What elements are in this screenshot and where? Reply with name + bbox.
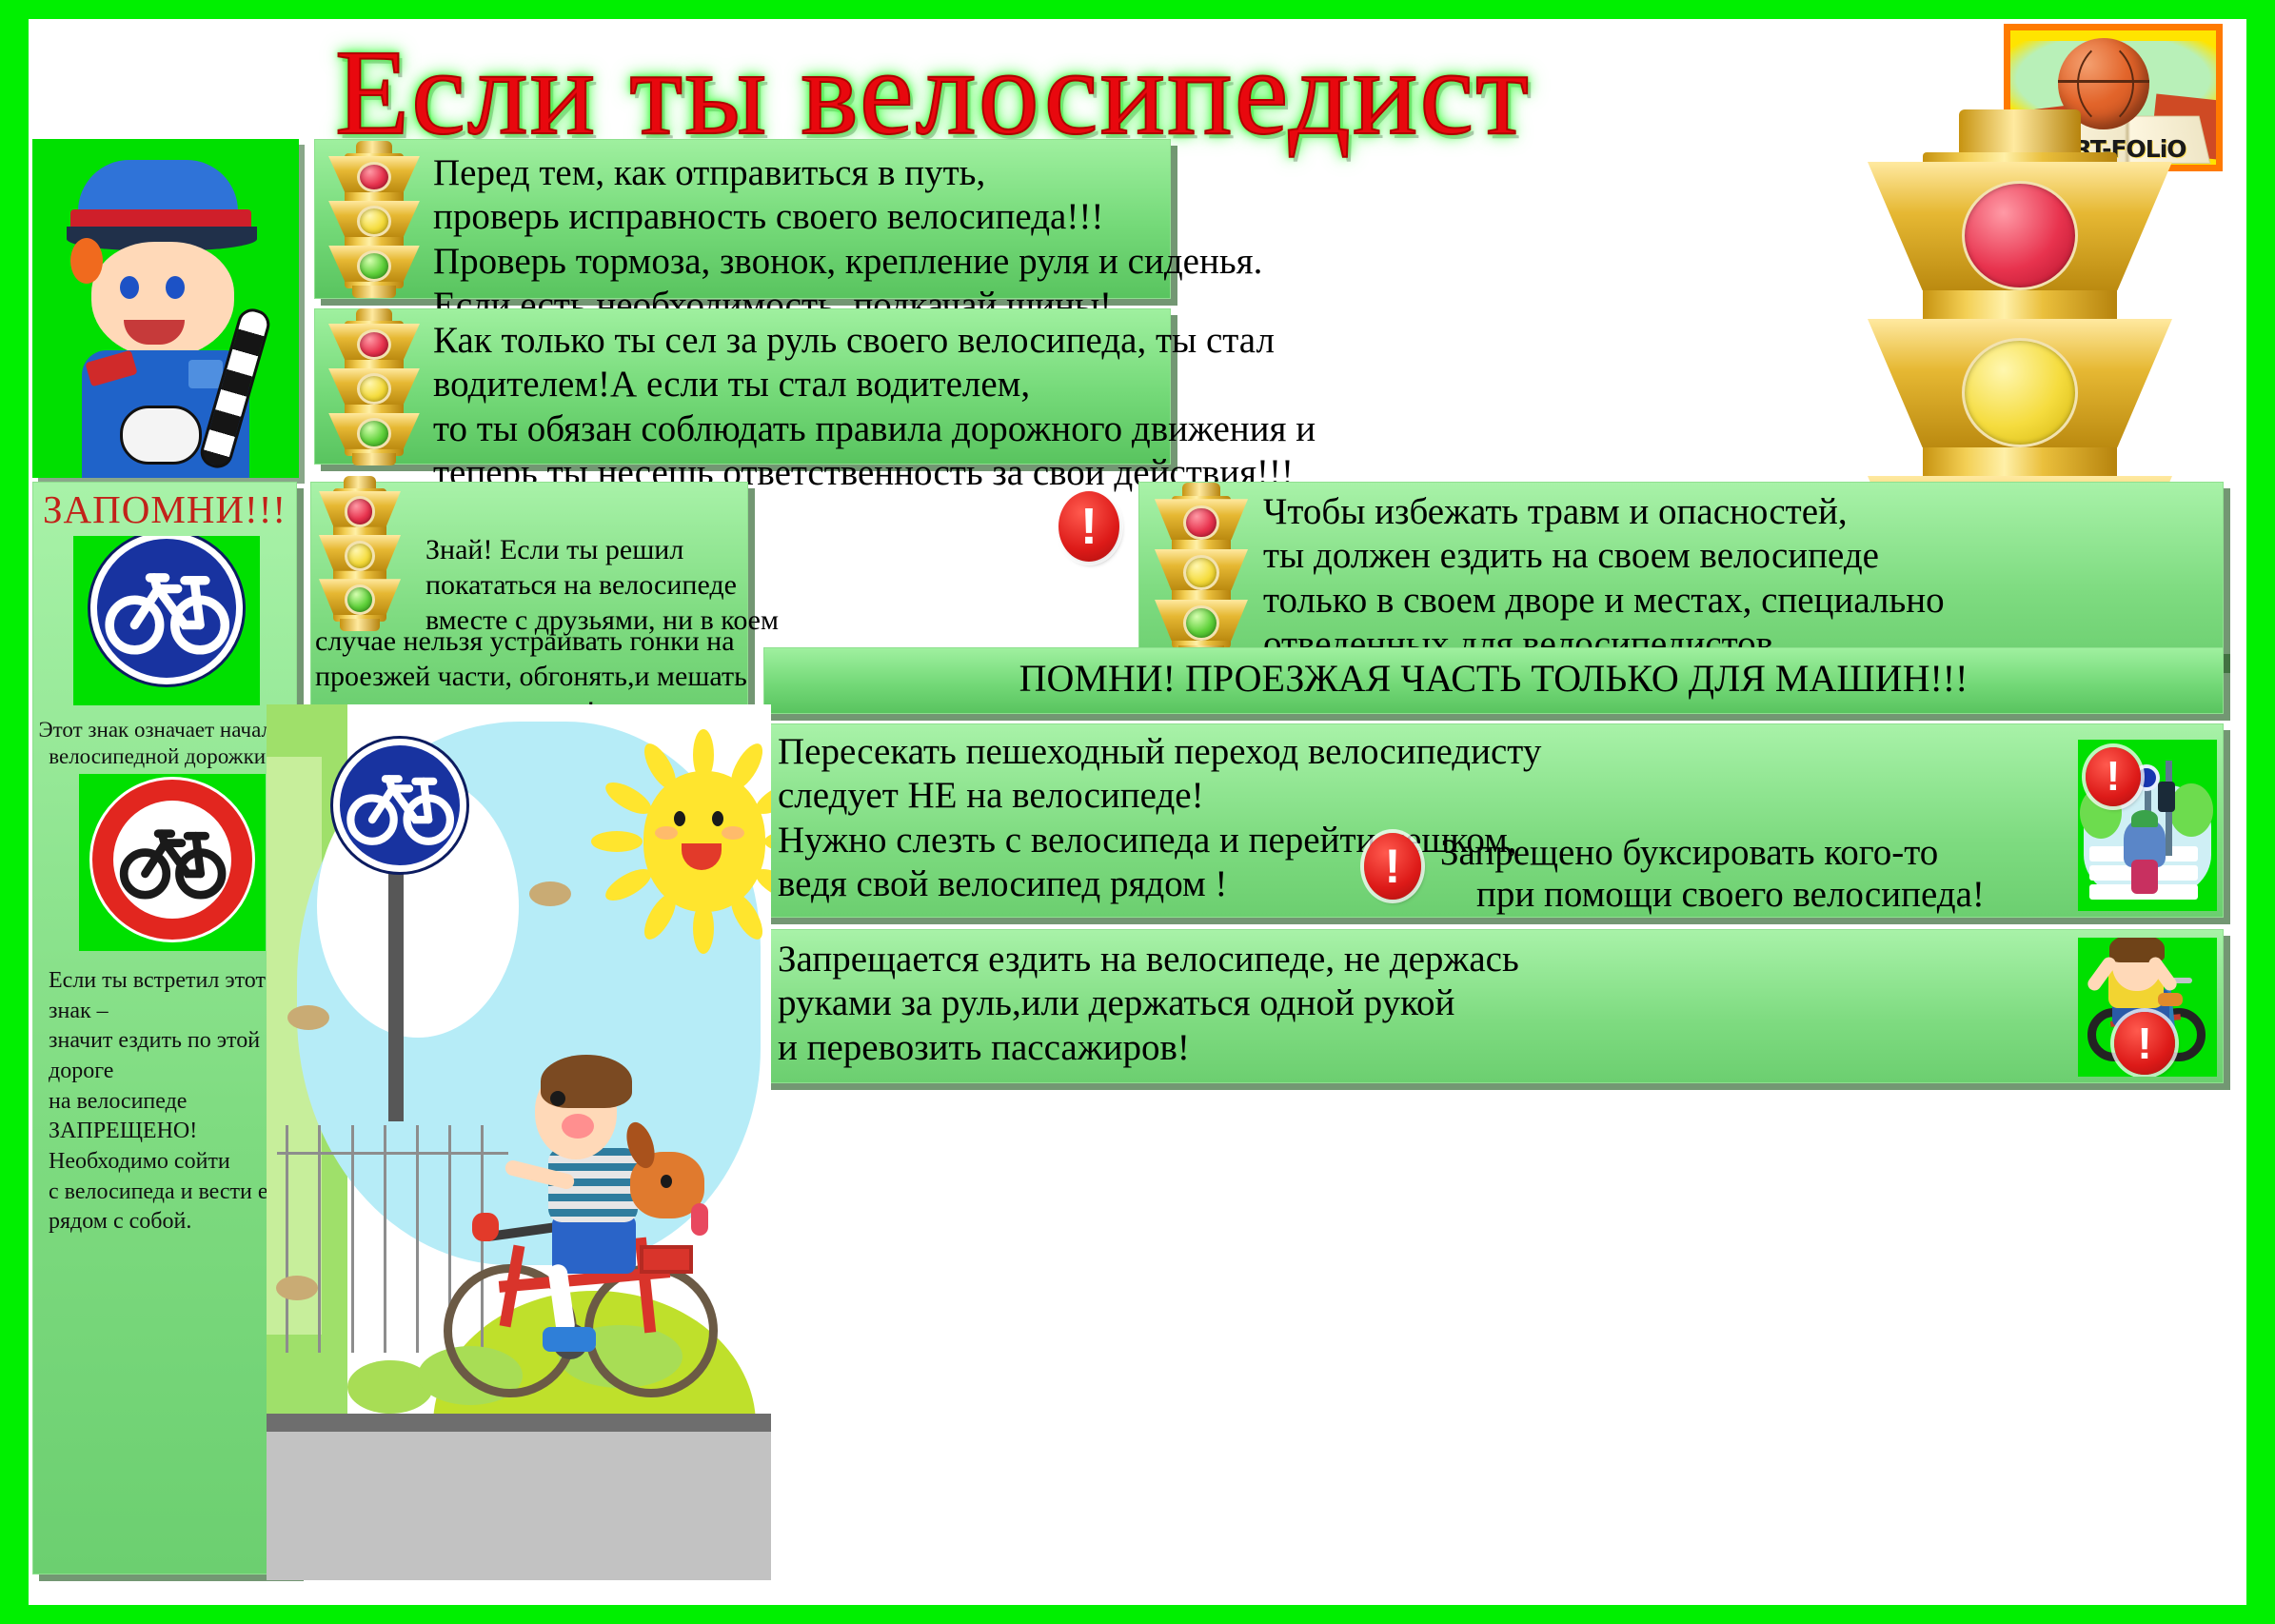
driver-line-1: Как только ты сел за руль своего велосип… [433,319,1157,363]
warning-icon-no-hands: ! [2114,1012,2175,1075]
driver-line-2: водителем!А если ты стал водителем, [433,363,1157,406]
policeman-eye-right [166,276,185,299]
poster-canvas: Если ты велосипедист SPORT-FOLiO [29,19,2246,1605]
no-hands-line-3: и перевозить пассажиров! [778,1026,2209,1070]
traffic-light-icon [328,153,420,288]
warning-icon-towing: ! [1364,833,1421,900]
cross-traffic-light [2158,782,2175,812]
no-racing-line-2: покататься на велосипеде [425,567,740,603]
panel-no-racing: Знай! Если ты решил покататься на велоси… [310,482,748,712]
scene-boy-eye [550,1091,565,1106]
scene-dog-tongue [691,1203,708,1236]
bicycle-allowed-caption: Этот знак означает начало велосипедной д… [33,717,288,769]
panel-you-are-driver: Как только ты сел за руль своего велосип… [314,308,1171,465]
traffic-light-icon [1155,496,1248,648]
panel-check-bike: Перед тем, как отправиться в путь, прове… [314,139,1171,299]
bicycle-allowed-sign-icon [90,536,243,684]
deny-caption-line-3: на велосипеде [49,1087,294,1118]
no-racing-line-4: случае нельзя устраивать гонки на [315,624,745,659]
scene-boy-cheek [562,1114,594,1139]
warning-glyph: ! [2107,756,2121,798]
smiling-sun-icon [619,723,771,914]
yard-line-2: ты должен ездить на своем велосипеде [1263,534,2209,578]
crosswalk-illustration: ! [2078,740,2217,911]
scene-bird-1 [287,1005,329,1030]
bicycle-allowed-sign-tile [73,536,260,705]
driver-line-3: то ты обязан соблюдать правила дорожного… [433,407,1157,451]
policeman-tile [32,139,299,478]
warning-glyph: ! [2137,1021,2151,1065]
page-title: Если ты велосипедист [29,29,1837,156]
check-bike-line-1: Перед тем, как отправиться в путь, [433,151,1157,195]
deny-caption-line-2: значит ездить по этой дороге [49,1026,294,1086]
scene-road [267,1432,771,1580]
policeman-hair [70,238,103,284]
crosswalk-line-2: следует НЕ на велосипеде! [778,774,2209,818]
panel-ride-in-yard: Чтобы избежать травм и опасностей, ты до… [1138,482,2224,666]
no-hands-line-2: руками за руль,или держаться одной рукой [778,981,2209,1025]
deny-caption-line-5: Необходимо сойти [49,1147,294,1178]
panel-remember: ЗАПОМНИ!!! Этот знак означае [32,482,297,1574]
warning-icon-crosswalk: ! [2086,747,2141,806]
policeman-eye-left [120,276,139,299]
warning-glyph: ! [1080,501,1098,552]
cyclist-helmet [2131,810,2158,827]
sun-eye-right [712,811,723,826]
warning-glyph: ! [1385,842,1401,890]
bicycle-prohibited-caption: Если ты встретил этот знак – значит езди… [49,966,294,1238]
sun-eye-left [674,811,685,826]
scene-rear-rack [640,1245,693,1274]
crosswalk-line-1: Пересекать пешеходный переход велосипеди… [778,730,2209,774]
cross-bush-right [2169,783,2213,837]
traffic-light-icon [319,488,401,622]
deny-caption-line-6: с велосипеда и вести его [49,1178,294,1208]
basketball-seam [2058,80,2149,83]
scene-boy-shorts [552,1215,636,1274]
yard-line-1: Чтобы избежать травм и опасностей, [1263,490,2209,534]
scene-dog-eye [661,1175,672,1188]
scene-bike-lamp [472,1213,499,1241]
deny-caption-line-7: рядом с собой. [49,1207,294,1238]
scene-sign-pole [388,864,404,1121]
panel-no-hands: Запрещается ездить на велосипеде, не дер… [763,929,2224,1083]
roadway-banner-text: ПОМНИ! ПРОЕЗЖАЯ ЧАСТЬ ТОЛЬКО ДЛЯ МАШИН!!… [781,656,2206,702]
allowed-caption-line-1: Этот знак означает начало [33,717,288,743]
no-hands-illustration: ! [2078,938,2217,1077]
deny-caption-line-1: Если ты встретил этот знак – [49,966,294,1026]
traffic-light-icon [328,321,420,456]
policeman-pocket [188,360,223,388]
check-bike-line-3: Проверь тормоза, звонок, крепление руля … [433,240,1157,284]
scene-bird-2 [529,881,571,906]
no-racing-line-5: проезжей части, обгонять,и мешать [315,659,745,694]
cyclist-legs [2131,860,2158,894]
bicycle-prohibited-sign-tile [79,774,266,951]
panel-roadway-banner: ПОМНИ! ПРОЕЗЖАЯ ЧАСТЬ ТОЛЬКО ДЛЯ МАШИН!!… [763,647,2224,714]
scene-boy-shoe [543,1327,596,1352]
policeman-glove [120,406,202,465]
towing-line-2: при помощи своего велосипеда! [1476,873,1985,917]
bicycle-allowed-sign-icon [333,739,466,872]
boy-on-bicycle-illustration [267,704,771,1580]
towing-line-1: Запрещено буксировать кого-то [1440,831,1938,875]
sun-cheek-right [722,826,744,840]
deny-caption-line-4: ЗАПРЕЩЕНО! [49,1117,294,1147]
allowed-caption-line-2: велосипедной дорожки! [33,743,288,770]
warning-icon-no-racing: ! [1058,491,1119,562]
nh-foot [2158,993,2183,1006]
check-bike-line-2: проверь исправность своего велосипеда!!! [433,195,1157,239]
sun-cheek-left [655,826,678,840]
yard-line-3: только в своем дворе и местах, специальн… [1263,579,2209,623]
scene-bird-3 [276,1276,318,1300]
no-hands-line-1: Запрещается ездить на велосипеде, не дер… [778,938,2209,981]
remember-heading: ЗАПОМНИ!!! [33,486,296,533]
bicycle-prohibited-sign-icon [92,780,252,940]
no-racing-line-1: Знай! Если ты решил [425,532,740,567]
panel-crosswalk: Пересекать пешеходный переход велосипеди… [763,723,2224,918]
